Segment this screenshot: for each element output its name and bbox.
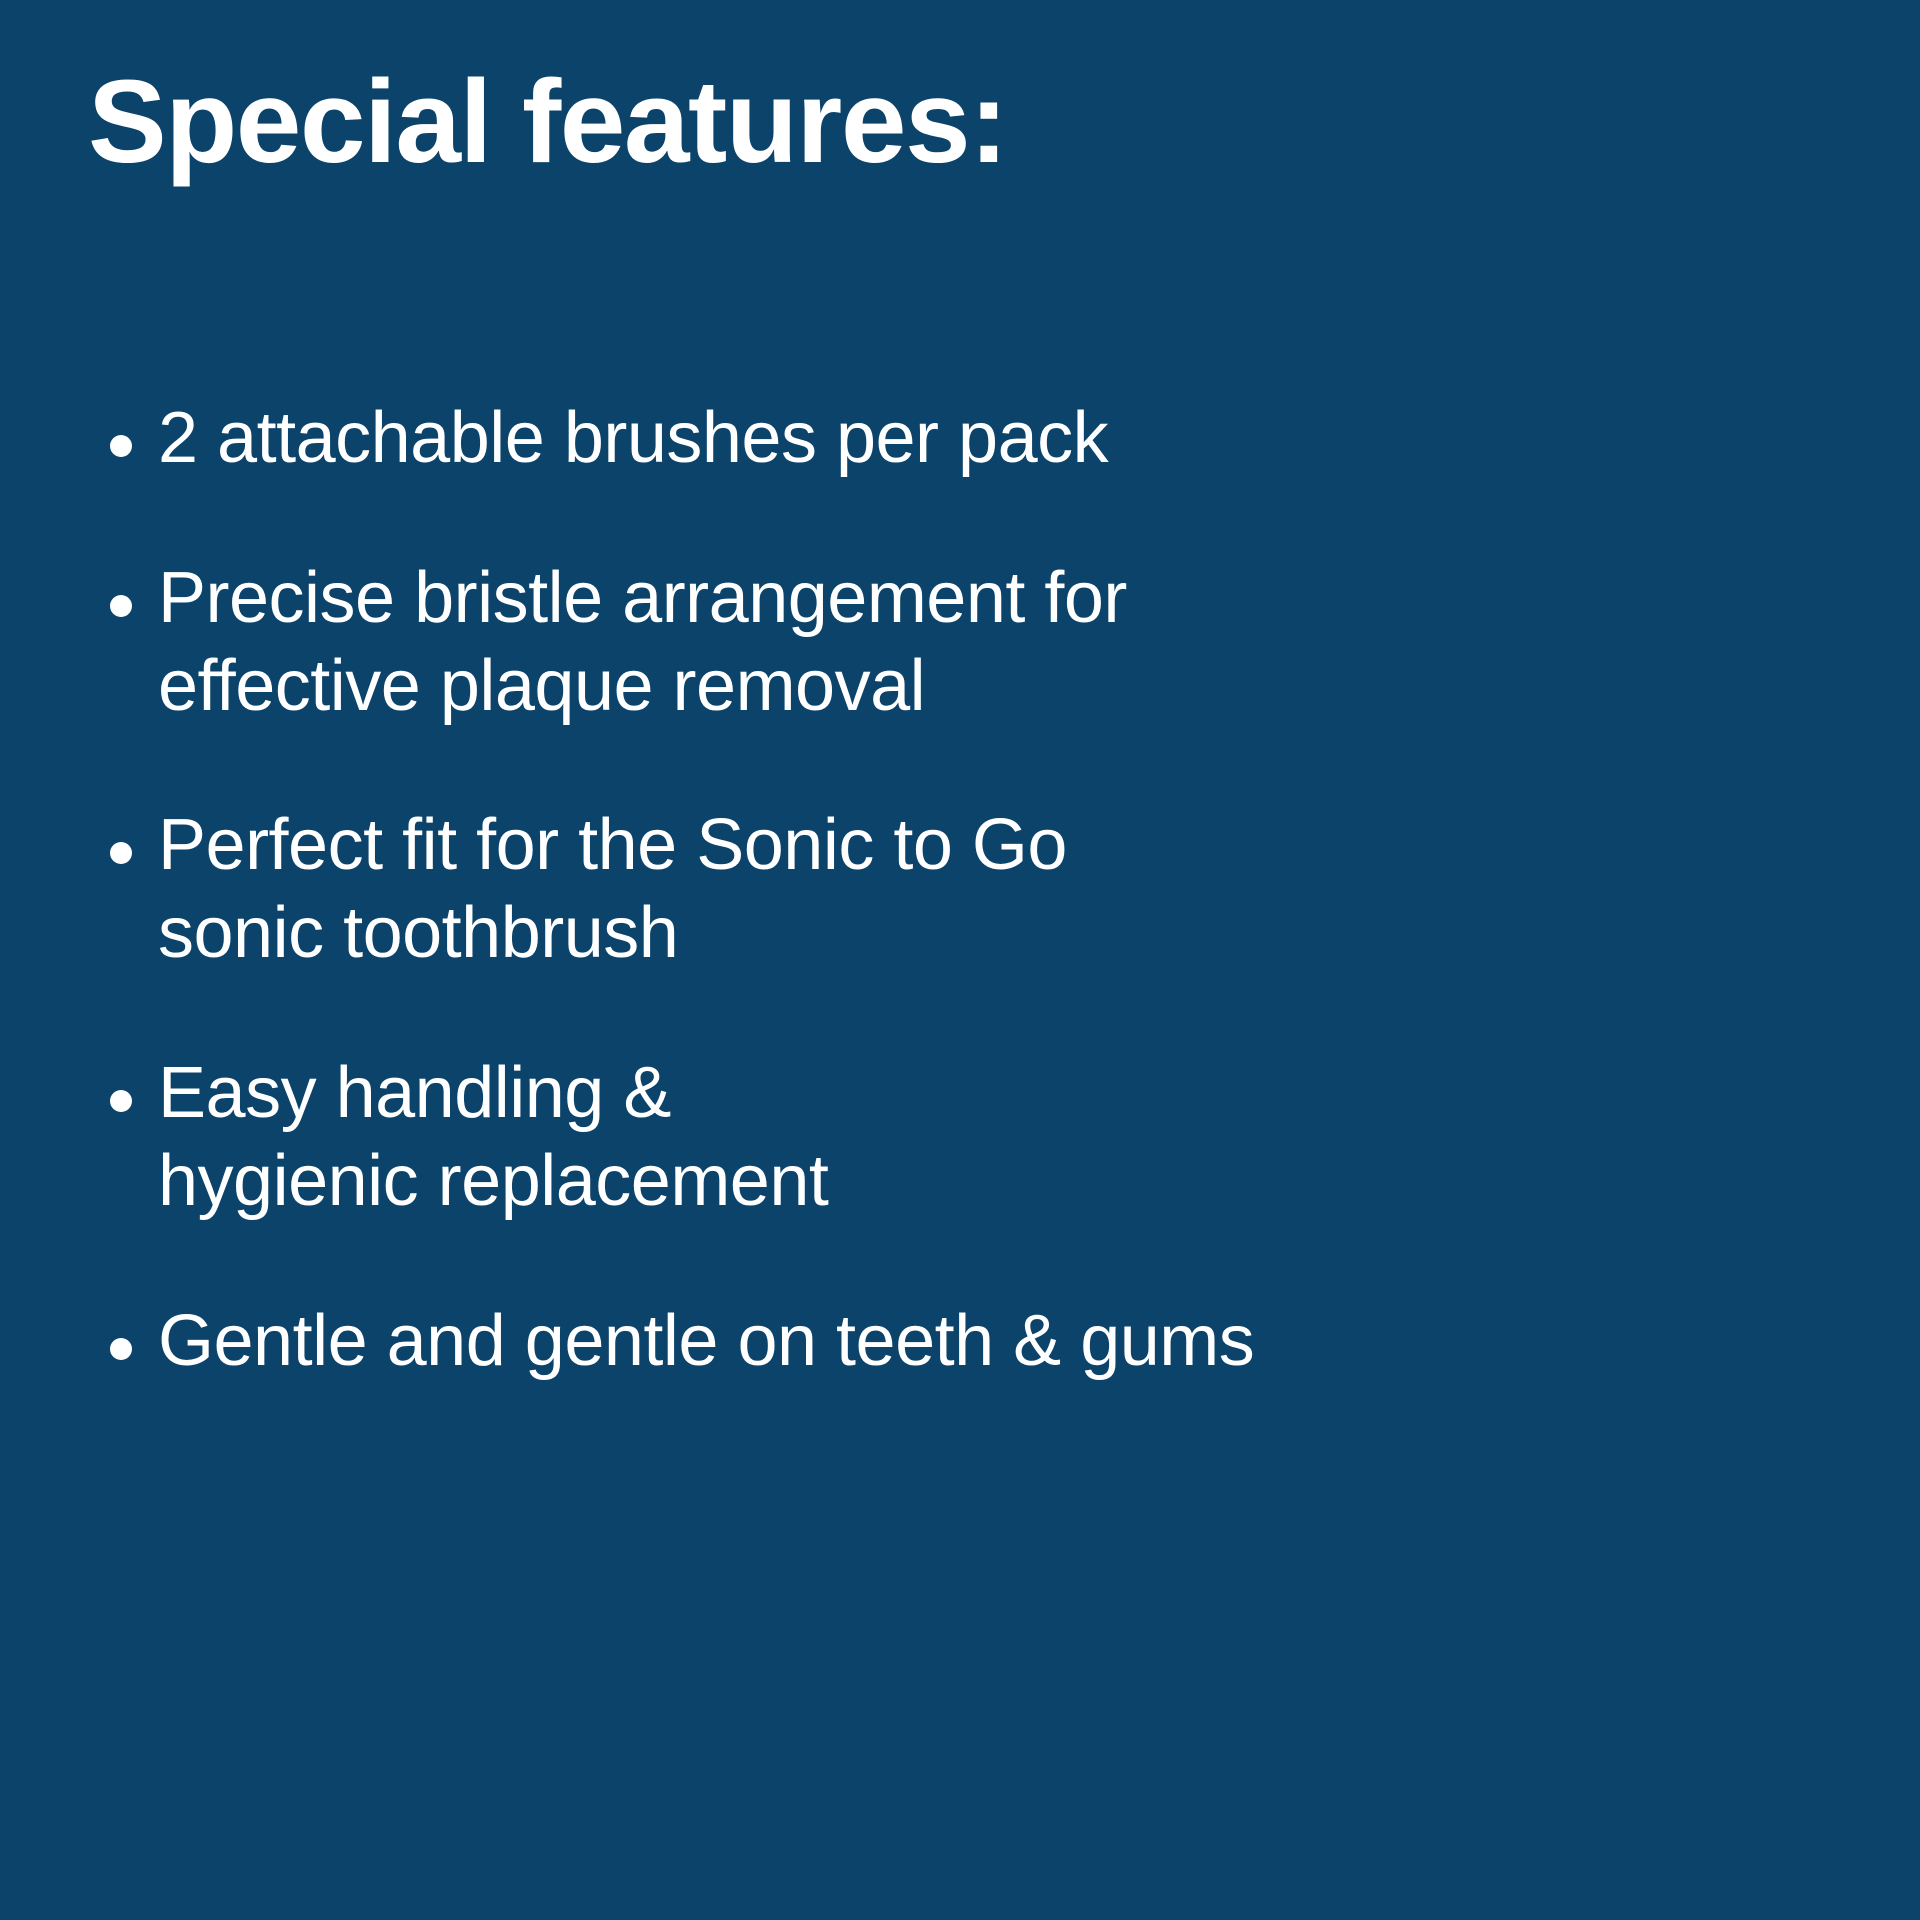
- bullet-icon: [110, 842, 132, 864]
- list-item: 2 attachable brushes per pack: [110, 395, 1850, 483]
- feature-text: Gentle and gentle on teeth & gums: [158, 1298, 1850, 1386]
- feature-text: Precise bristle arrangement for effectiv…: [158, 555, 1850, 731]
- features-list: 2 attachable brushes per pack Precise br…: [110, 395, 1850, 1386]
- bullet-icon: [110, 1338, 132, 1360]
- bullet-icon: [110, 595, 132, 617]
- list-item: Easy handling & hygienic replacement: [110, 1050, 1850, 1226]
- list-item: Gentle and gentle on teeth & gums: [110, 1298, 1850, 1386]
- feature-text: Perfect fit for the Sonic to Go sonic to…: [158, 802, 1850, 978]
- feature-text: Easy handling & hygienic replacement: [158, 1050, 1850, 1226]
- bullet-icon: [110, 435, 132, 457]
- list-item: Perfect fit for the Sonic to Go sonic to…: [110, 802, 1850, 978]
- bullet-icon: [110, 1090, 132, 1112]
- feature-text: 2 attachable brushes per pack: [158, 395, 1850, 483]
- list-item: Precise bristle arrangement for effectiv…: [110, 555, 1850, 731]
- page-title: Special features:: [88, 60, 1007, 185]
- feature-slide: Special features: 2 attachable brushes p…: [0, 0, 1920, 1920]
